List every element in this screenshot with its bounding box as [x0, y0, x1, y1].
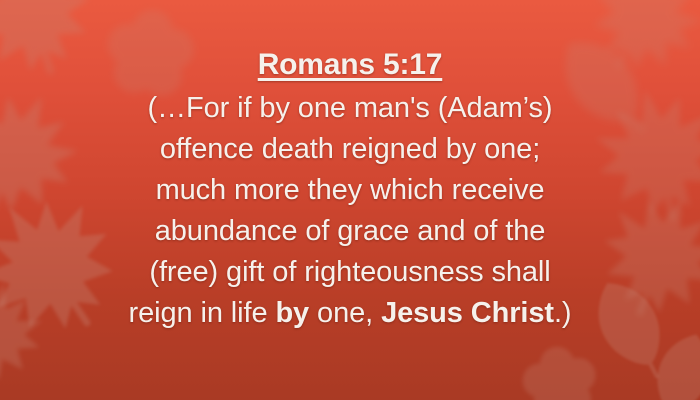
verse-line-1: (…For if by one man's (Adam’s) — [30, 88, 670, 129]
scripture-verse-slide: Romans 5:17 (…For if by one man's (Adam’… — [0, 0, 700, 400]
emphasis-word: by — [275, 297, 309, 329]
verse-text-run: reign in life — [129, 297, 276, 329]
verse-body-text: (…For if by one man's (Adam’s)offence de… — [30, 88, 670, 334]
verse-text-run: .) — [554, 297, 572, 329]
verse-line-6: reign in life by one, Jesus Christ.) — [30, 293, 670, 334]
verse-line-4: abundance of grace and of the — [30, 211, 670, 252]
emphasis-word: Jesus Christ — [381, 297, 554, 329]
verse-line-2: offence death reigned by one; — [30, 129, 670, 170]
verse-text-block: Romans 5:17 (…For if by one man's (Adam’… — [0, 0, 700, 400]
verse-text-run: one, — [309, 297, 381, 329]
verse-line-3: much more they which receive — [30, 170, 670, 211]
verse-line-5: (free) gift of righteousness shall — [30, 252, 670, 293]
verse-reference-title: Romans 5:17 — [258, 48, 443, 82]
